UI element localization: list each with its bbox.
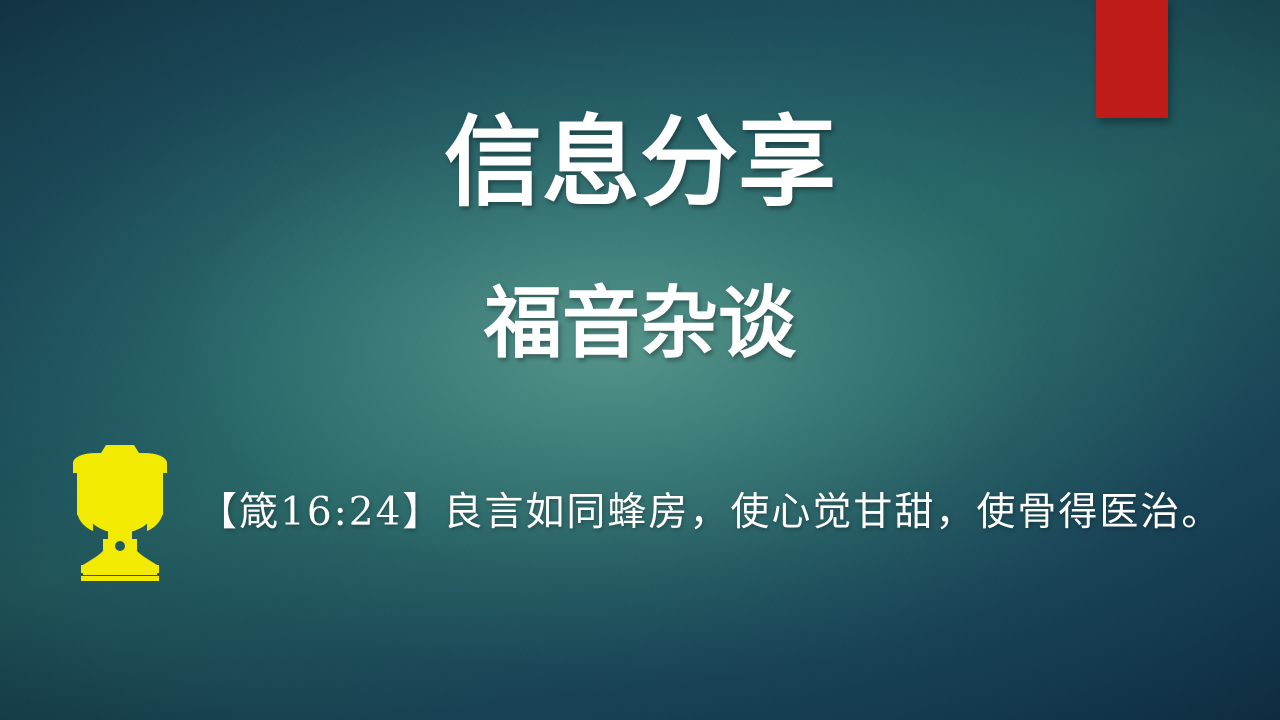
slide-subtitle: 福音杂谈: [0, 283, 1280, 365]
verse-block: 【箴16:24】良言如同蜂房，使心觉甘甜，使骨得医治。: [70, 443, 1250, 583]
accent-bar-decoration: [1096, 0, 1168, 118]
presentation-slide: 信息分享 福音杂谈 【箴16:24】良言如同蜂房，使心觉甘甜: [0, 0, 1280, 720]
slide-title: 信息分享: [0, 113, 1280, 211]
oil-lamp-icon: [70, 445, 170, 581]
verse-text: 【箴16:24】良言如同蜂房，使心觉甘甜，使骨得医治。: [198, 489, 1250, 538]
